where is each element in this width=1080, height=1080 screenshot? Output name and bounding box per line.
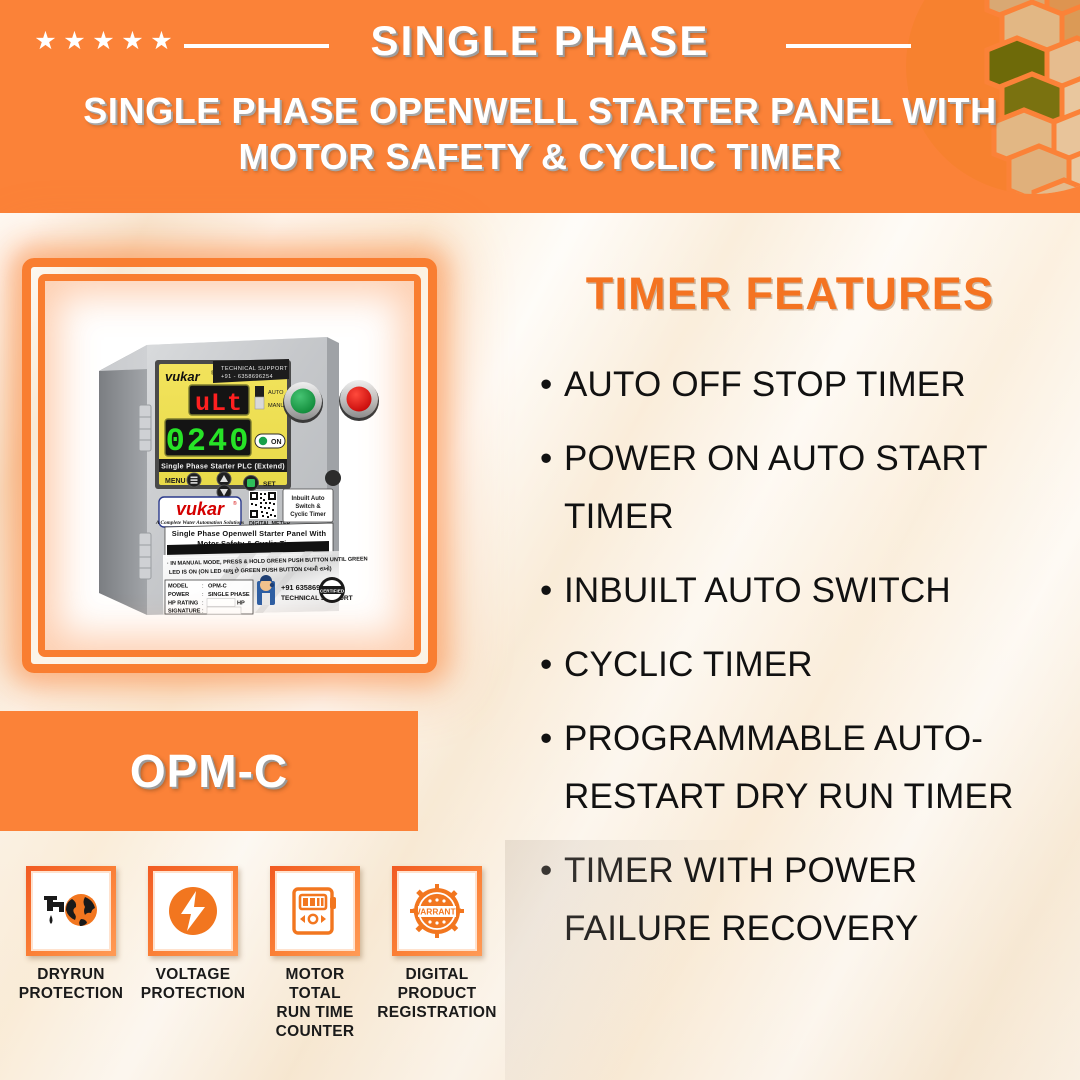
red-push-button[interactable] <box>339 380 379 421</box>
feature-text: POWER ON AUTO START TIMER <box>564 439 987 536</box>
feature-item: • TIMER WITH POWER FAILURE RECOVERY <box>534 842 1074 958</box>
features-list: • AUTO OFF STOP TIMER • POWER ON AUTO ST… <box>534 356 1074 974</box>
menu-label: MENU <box>165 478 186 485</box>
warranty-seal-icon: WARRANTY <box>408 883 466 939</box>
feature-item: • AUTO OFF STOP TIMER <box>534 356 1074 414</box>
product-poster: ★ ★ ★ ★ ★ SINGLE PHASE SINGLE PHASE OPEN… <box>0 0 1080 1080</box>
header-kicker: SINGLE PHASE <box>0 17 1080 65</box>
brand-name: vukar <box>176 499 225 519</box>
spec-label-hp: HP RATING <box>168 601 198 607</box>
menu-button[interactable] <box>187 473 201 487</box>
spec-label-model: MODEL <box>168 584 189 590</box>
title-strip-line-1: Single Phase Openwell Starter Panel With <box>172 529 327 538</box>
certification-seal-icon: CERTIFIED <box>319 577 345 603</box>
on-indicator-label: ON <box>271 439 282 446</box>
feature-text: TIMER WITH POWER FAILURE RECOVERY <box>564 851 919 948</box>
bullet-icon: • <box>540 562 552 620</box>
feature-icon-digital-registration: WARRANTY DIGITALPRODUCTREGISTRATION <box>378 866 496 1066</box>
icon-box <box>148 866 238 956</box>
bullet-icon: • <box>540 710 552 768</box>
mode-auto-label: AUTO <box>268 390 284 396</box>
icon-box <box>26 866 116 956</box>
brand-sticker: vukar ® A Complete Water Automation Solu… <box>155 497 244 527</box>
display-top-value: uLt <box>195 389 243 418</box>
model-banner-text: OPM-C <box>130 744 288 798</box>
starter-panel-product-image: vukar ® TECHNICAL SUPPORT +91 - 63586962… <box>61 293 413 649</box>
icon-caption: MOTORTOTALRUN TIMECOUNTER <box>276 965 355 1041</box>
feature-text: INBUILT AUTO SWITCH <box>564 571 951 610</box>
spec-value-model: OPM-C <box>208 584 227 590</box>
header-banner: ★ ★ ★ ★ ★ SINGLE PHASE SINGLE PHASE OPEN… <box>0 0 1080 213</box>
spec-value-power: SINGLE PHASE <box>208 592 250 598</box>
feature-item: • POWER ON AUTO START TIMER <box>534 430 1074 546</box>
feature-icon-voltage-protection: VOLTAGEPROTECTION <box>134 866 252 1066</box>
bullet-icon: • <box>540 430 552 488</box>
hinge-icon <box>139 533 151 579</box>
controller-module: vukar ® TECHNICAL SUPPORT +91 - 63586962… <box>155 359 291 506</box>
icon-box: WARRANTY <box>392 866 482 956</box>
display-bottom-value: 0240 <box>166 423 251 460</box>
badge-line-1: Inbuilt Auto <box>291 496 324 502</box>
features-title: TIMER FEATURES <box>500 268 1080 320</box>
feature-text: AUTO OFF STOP TIMER <box>564 365 966 404</box>
feature-icon-strip: DRYRUNPROTECTION VOLTAGEPROTECTION <box>12 866 502 1066</box>
badge-line-2: Switch & <box>295 504 321 510</box>
headline-line-1: SINGLE PHASE OPENWELL STARTER PANEL WITH <box>0 88 1080 134</box>
header-headline: SINGLE PHASE OPENWELL STARTER PANEL WITH… <box>0 88 1080 180</box>
badge-line-3: Cyclic Timer <box>290 512 326 518</box>
inbuilt-badge: Inbuilt Auto Switch & Cyclic Timer <box>283 489 333 522</box>
icon-inner <box>275 871 355 951</box>
svg-text:®: ® <box>233 500 237 507</box>
feature-icon-run-time-counter: MOTORTOTALRUN TIMECOUNTER <box>256 866 374 1066</box>
model-banner: OPM-C <box>0 711 418 831</box>
icon-box <box>270 866 360 956</box>
door-latch-knob <box>325 470 341 486</box>
svg-text:CERTIFIED: CERTIFIED <box>320 589 345 594</box>
digital-meter-icon <box>286 883 344 939</box>
lightning-bolt-icon <box>165 883 221 939</box>
bullet-icon: • <box>540 636 552 694</box>
on-indicator: ON <box>255 434 285 448</box>
spec-table: MODEL : OPM-C POWER : SINGLE PHASE HP RA… <box>165 580 253 615</box>
spec-label-power: POWER <box>168 592 189 598</box>
svg-text:WARRANTY: WARRANTY <box>413 907 462 917</box>
icon-inner <box>153 871 233 951</box>
icon-inner: WARRANTY <box>397 871 477 951</box>
spec-label-signature: SIGNATURE <box>168 609 201 615</box>
controller-support-phone: +91 - 6358696254 <box>221 374 273 380</box>
set-label: SET <box>263 481 276 488</box>
hinge-icon <box>139 405 151 451</box>
bullet-icon: • <box>540 842 552 900</box>
icon-caption: DIGITALPRODUCTREGISTRATION <box>377 965 497 1022</box>
controller-brand: vukar <box>165 369 201 384</box>
icon-inner <box>31 871 111 951</box>
up-button[interactable] <box>217 472 231 486</box>
feature-icon-dryrun-protection: DRYRUNPROTECTION <box>12 866 130 1066</box>
feature-text: CYCLIC TIMER <box>564 645 813 684</box>
headline-line-2: MOTOR SAFETY & CYCLIC TIMER <box>0 134 1080 180</box>
feature-text: PROGRAMMABLE AUTO-RESTART DRY RUN TIMER <box>564 719 1014 816</box>
spec-value-hp: HP <box>237 601 245 607</box>
product-frame-inner: vukar ® TECHNICAL SUPPORT +91 - 63586962… <box>38 274 421 657</box>
icon-caption: DRYRUNPROTECTION <box>19 965 124 1003</box>
feature-item: • PROGRAMMABLE AUTO-RESTART DRY RUN TIME… <box>534 710 1074 826</box>
icon-caption: VOLTAGEPROTECTION <box>141 965 246 1003</box>
feature-item: • INBUILT AUTO SWITCH <box>534 562 1074 620</box>
tap-globe-icon <box>41 885 101 937</box>
title-strip-line-2: Motor Safety & Cyclic Timer <box>197 539 300 548</box>
bullet-icon: • <box>540 356 552 414</box>
set-button[interactable] <box>244 476 259 491</box>
feature-item: • CYCLIC TIMER <box>534 636 1074 694</box>
controller-support-label: TECHNICAL SUPPORT <box>221 366 288 372</box>
